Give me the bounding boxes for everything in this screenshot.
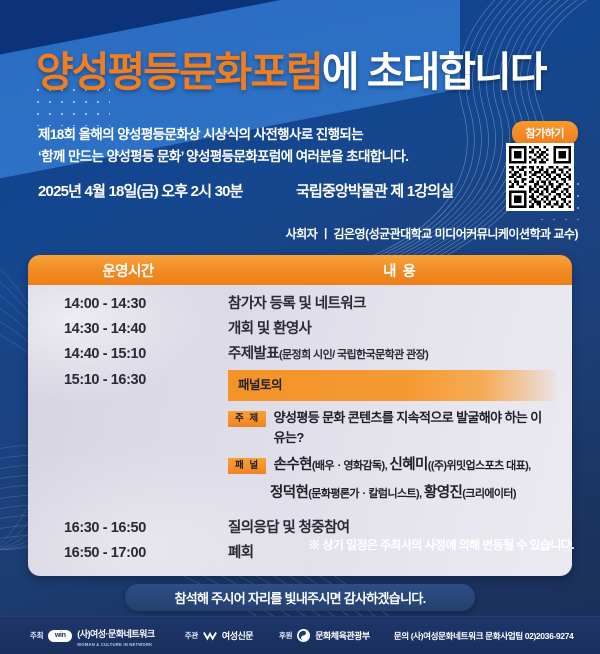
table-row: 16:50 - 17:00 폐회 bbox=[28, 541, 572, 566]
row-time: 16:50 - 17:00 bbox=[28, 541, 228, 566]
title-rest: 에 초대합니다 bbox=[322, 49, 546, 95]
closing-message: 참석해 주시어 자리를 빛내주시면 감사하겠습니다. bbox=[125, 584, 475, 611]
event-datetime: 2025년 4월 18일(금) 오후 2시 30분 bbox=[38, 180, 243, 201]
table-row: 14:00 - 14:30 참가자 등록 및 네트워크 bbox=[28, 292, 572, 317]
row-content-main: 주제발표 bbox=[228, 346, 279, 362]
host-name: (사)여성·문화네트워크 bbox=[77, 629, 155, 639]
topic-text: 양성평등 문화 콘텐츠를 지속적으로 발굴해야 하는 이유는? bbox=[274, 408, 546, 448]
panel-tag: 패 널 bbox=[228, 458, 266, 474]
row-time: 14:40 - 15:10 bbox=[28, 342, 228, 367]
lead-paragraph: 제18회 올해의 양성평등문화상 시상식의 사전행사로 진행되는 ‘함께 만드는… bbox=[38, 124, 458, 168]
taegeuk-icon bbox=[298, 630, 309, 641]
womennews-logo-icon bbox=[203, 630, 217, 642]
panelist-role: (문화평론가ㆍ칼럼니스트), bbox=[308, 488, 424, 500]
panelists-text-2: 정덕현(문화평론가ㆍ칼럼니스트), 황영진(크리에이터) bbox=[270, 483, 516, 504]
lead-line-2: ‘함께 만드는 양성평등 문화’ 양성평등문화포럼에 여러분을 초대합니다. bbox=[38, 146, 458, 168]
organizer-group: 주관 여성신문 bbox=[185, 629, 253, 642]
contact-info: 문의 (사)여성문화네트워크 문화사업팀 02)2036-9274 bbox=[394, 630, 574, 642]
panelist-name: 신혜미 bbox=[390, 457, 428, 473]
panelist-name: 정덕현 bbox=[270, 485, 308, 501]
sponsor-footer: 주최 win (사)여성·문화네트워크 WOMAN & CULTURE IN N… bbox=[0, 616, 600, 654]
panelist-role: ((주)위밋업스포츠 대표), bbox=[428, 460, 531, 472]
panelists-line-2: 정덕현(문화평론가ㆍ칼럼니스트), 황영진(크리에이터) bbox=[228, 483, 556, 504]
qr-code[interactable] bbox=[506, 143, 574, 211]
table-row: 16:30 - 16:50 질의응답 및 청중참여 bbox=[28, 516, 572, 541]
host-name-sub: WOMAN & CULTURE IN NETWORK bbox=[77, 642, 155, 647]
row-content: 참가자 등록 및 네트워크 bbox=[228, 292, 572, 317]
schedule-table: 운영시간 내 용 14:00 - 14:30 참가자 등록 및 네트워크 14:… bbox=[28, 255, 572, 576]
column-header-time: 운영시간 bbox=[28, 260, 228, 281]
sponsor-name: 문화체육관광부 bbox=[315, 629, 369, 642]
row-content-panel: 패널토의 주 제 양성평등 문화 콘텐츠를 지속적으로 발굴해야 하는 이유는?… bbox=[228, 368, 572, 504]
host-label: 주최 bbox=[30, 630, 43, 641]
government-emblem-icon bbox=[297, 629, 310, 642]
table-row: 14:40 - 15:10 주제발표(문정희 시인/ 국립한국문학관 관장) bbox=[28, 342, 572, 368]
table-body: 14:00 - 14:30 참가자 등록 및 네트워크 14:30 - 14:4… bbox=[28, 285, 572, 576]
row-content: 주제발표(문정희 시인/ 국립한국문학관 관장) bbox=[228, 342, 572, 368]
row-time: 15:10 - 16:30 bbox=[28, 368, 228, 393]
event-venue: 국립중앙박물관 제 1강의실 bbox=[296, 180, 453, 201]
panelist-role: (크리에이터) bbox=[462, 488, 516, 500]
row-content: 질의응답 및 청중참여 bbox=[228, 516, 572, 541]
host-group: 주최 win (사)여성·문화네트워크 WOMAN & CULTURE IN N… bbox=[30, 624, 155, 647]
row-time: 14:30 - 14:40 bbox=[28, 317, 228, 342]
panel-discussion-bar: 패널토의 bbox=[228, 370, 556, 401]
qr-code-icon bbox=[509, 146, 571, 208]
sponsor-label: 후원 bbox=[279, 630, 292, 641]
lead-line-1: 제18회 올해의 양성평등문화상 시상식의 사전행사로 진행되는 bbox=[38, 124, 458, 146]
table-header-row: 운영시간 내 용 bbox=[28, 255, 572, 285]
table-row-panel: 15:10 - 16:30 패널토의 주 제 양성평등 문화 콘텐츠를 지속적으… bbox=[28, 368, 572, 504]
win-logo-icon: win bbox=[48, 630, 72, 642]
row-content: 폐회 bbox=[228, 541, 572, 566]
event-poster: 양성평등문화포럼에 초대합니다 제18회 올해의 양성평등문화상 시상식의 사전… bbox=[0, 0, 600, 654]
column-header-content: 내 용 bbox=[228, 260, 572, 281]
organizer-name: 여성신문 bbox=[222, 629, 253, 642]
page-title: 양성평등문화포럼에 초대합니다 bbox=[36, 38, 545, 98]
register-button[interactable]: 참가하기 bbox=[512, 121, 578, 145]
organizer-label: 주관 bbox=[185, 630, 198, 641]
panelists-line: 패 널 손수현(배우ㆍ영화감독), 신혜미((주)위밋업스포츠 대표), bbox=[228, 455, 556, 476]
topic-tag: 주 제 bbox=[228, 411, 266, 427]
row-content-sub: (문정희 시인/ 국립한국문학관 관장) bbox=[279, 349, 428, 361]
panelist-name: 황영진 bbox=[424, 485, 462, 501]
host-name-block: (사)여성·문화네트워크 WOMAN & CULTURE IN NETWORK bbox=[77, 624, 155, 647]
panelist-name: 손수현 bbox=[274, 457, 312, 473]
event-moderator: 사회자 ㅣ 김은영(성균관대학교 미디어커뮤니케이션학과 교수) bbox=[286, 225, 578, 242]
panelists-text: 손수현(배우ㆍ영화감독), 신혜미((주)위밋업스포츠 대표), bbox=[274, 455, 531, 476]
panel-topic-line: 주 제 양성평등 문화 콘텐츠를 지속적으로 발굴해야 하는 이유는? bbox=[228, 408, 556, 448]
row-content: 개회 및 환영사 bbox=[228, 317, 572, 342]
row-time: 16:30 - 16:50 bbox=[28, 516, 228, 541]
sponsor-group: 후원 문화체육관광부 bbox=[279, 629, 370, 642]
panelist-role: (배우ㆍ영화감독), bbox=[312, 460, 390, 472]
title-highlight: 양성평등문화포럼 bbox=[36, 49, 322, 95]
table-row: 14:30 - 14:40 개회 및 환영사 bbox=[28, 317, 572, 342]
row-time: 14:00 - 14:30 bbox=[28, 292, 228, 317]
